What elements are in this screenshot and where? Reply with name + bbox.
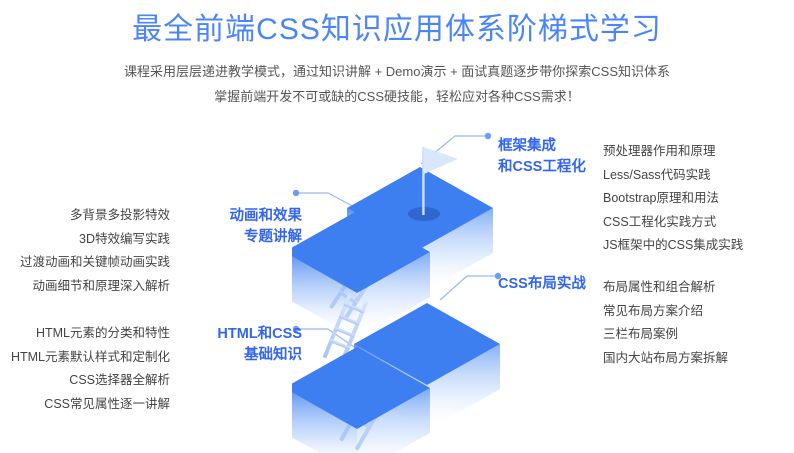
list-item: JS框架中的CSS集成实践 [603,234,793,258]
list-item: CSS常见属性逐一讲解 [10,393,170,417]
page-header: 最全前端CSS知识应用体系阶梯式学习 课程采用层层递进教学模式，通过知识讲解 +… [0,0,794,109]
list-item: 动画细节和原理深入解析 [10,275,170,299]
subtitle-line-2: 掌握前端开发不可或缺的CSS硬技能，轻松应对各种CSS需求！ [0,84,794,109]
list-item: 多背景多投影特效 [10,204,170,228]
group-heading-basics: HTML和CSS 基础知识 [182,324,302,366]
group-items-basics: HTML元素的分类和特性 HTML元素默认样式和定制化 CSS选择器全解析 CS… [10,322,170,416]
list-item: 常见布局方案介绍 [603,300,793,324]
list-item: Less/Sass代码实践 [603,164,793,188]
list-item: HTML元素默认样式和定制化 [10,346,170,370]
list-item: 布局属性和组合解析 [603,276,793,300]
list-item: HTML元素的分类和特性 [10,322,170,346]
list-item: 三栏布局案例 [603,323,793,347]
group-items-layout: 布局属性和组合解析 常见布局方案介绍 三栏布局案例 国内大站布局方案拆解 [603,276,793,370]
heading-animation-line-2: 专题讲解 [182,227,302,248]
list-item: Bootstrap原理和用法 [603,187,793,211]
staircase-illustration [292,118,528,453]
subtitle-line-1: 课程采用层层递进教学模式，通过知识讲解 + Demo演示 + 面试真题逐步带你探… [0,59,794,84]
list-item: 过渡动画和关键帧动画实践 [10,251,170,275]
list-item: 3D特效编写实践 [10,228,170,252]
heading-animation-line-1: 动画和效果 [182,206,302,227]
list-item: CSS选择器全解析 [10,369,170,393]
list-item: 预处理器作用和原理 [603,140,793,164]
group-items-animation: 多背景多投影特效 3D特效编写实践 过渡动画和关键帧动画实践 动画细节和原理深入… [10,204,170,298]
heading-basics-line-2: 基础知识 [182,345,302,366]
list-item: 国内大站布局方案拆解 [603,347,793,371]
course-map: 框架集成 和CSS工程化 预处理器作用和原理 Less/Sass代码实践 Boo… [0,118,794,453]
heading-basics-line-1: HTML和CSS [182,324,302,345]
group-heading-animation: 动画和效果 专题讲解 [182,206,302,248]
page-root: 最全前端CSS知识应用体系阶梯式学习 课程采用层层递进教学模式，通过知识讲解 +… [0,0,794,453]
page-title: 最全前端CSS知识应用体系阶梯式学习 [0,0,794,49]
group-items-framework: 预处理器作用和原理 Less/Sass代码实践 Bootstrap原理和用法 C… [603,140,793,258]
page-subtitle: 课程采用层层递进教学模式，通过知识讲解 + Demo演示 + 面试真题逐步带你探… [0,49,794,109]
list-item: CSS工程化实践方式 [603,211,793,235]
